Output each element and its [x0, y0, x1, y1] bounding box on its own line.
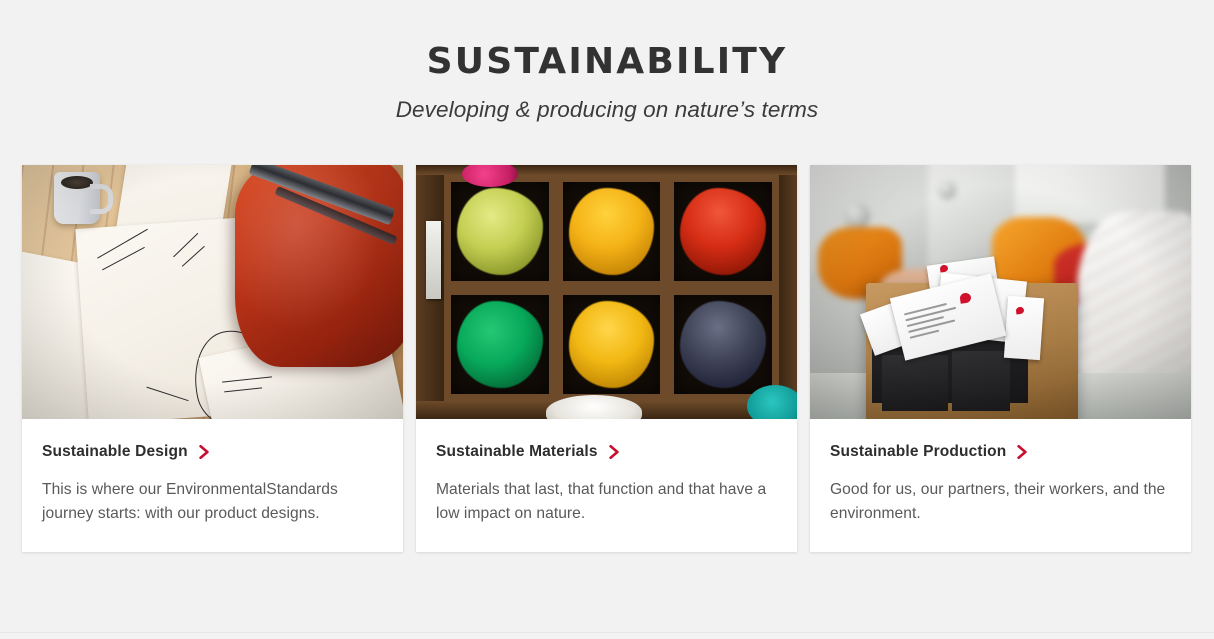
card-title: Sustainable Materials [436, 443, 598, 462]
chevron-right-icon[interactable] [199, 445, 210, 459]
card-sustainable-materials[interactable]: Sustainable Materials Materials that las… [416, 165, 797, 552]
card-image-sustainable-materials [416, 165, 797, 419]
sustainability-section: SUSTAINABILITY Developing & producing on… [0, 0, 1214, 639]
card-title: Sustainable Production [830, 443, 1006, 462]
card-body: Sustainable Materials Materials that las… [416, 419, 797, 552]
card-image-sustainable-design [22, 165, 403, 419]
card-sustainable-design[interactable]: Sustainable Design This is where our Env… [22, 165, 403, 552]
card-description: Good for us, our partners, their workers… [830, 478, 1170, 526]
section-header: SUSTAINABILITY Developing & producing on… [0, 0, 1214, 123]
section-subtitle: Developing & producing on nature’s terms [0, 96, 1214, 123]
card-image-sustainable-production [810, 165, 1191, 419]
card-title-row[interactable]: Sustainable Production [830, 443, 1171, 462]
card-grid: Sustainable Design This is where our Env… [22, 165, 1192, 552]
page-title: SUSTAINABILITY [0, 41, 1214, 82]
card-title: Sustainable Design [42, 443, 188, 462]
card-title-row[interactable]: Sustainable Materials [436, 443, 777, 462]
page-bottom-divider [0, 632, 1214, 633]
card-description: Materials that last, that function and t… [436, 478, 776, 526]
card-title-row[interactable]: Sustainable Design [42, 443, 383, 462]
card-body: Sustainable Production Good for us, our … [810, 419, 1191, 552]
chevron-right-icon[interactable] [609, 445, 620, 459]
chevron-right-icon[interactable] [1017, 445, 1028, 459]
card-description: This is where our EnvironmentalStandards… [42, 478, 382, 526]
card-sustainable-production[interactable]: Sustainable Production Good for us, our … [810, 165, 1191, 552]
card-body: Sustainable Design This is where our Env… [22, 419, 403, 552]
